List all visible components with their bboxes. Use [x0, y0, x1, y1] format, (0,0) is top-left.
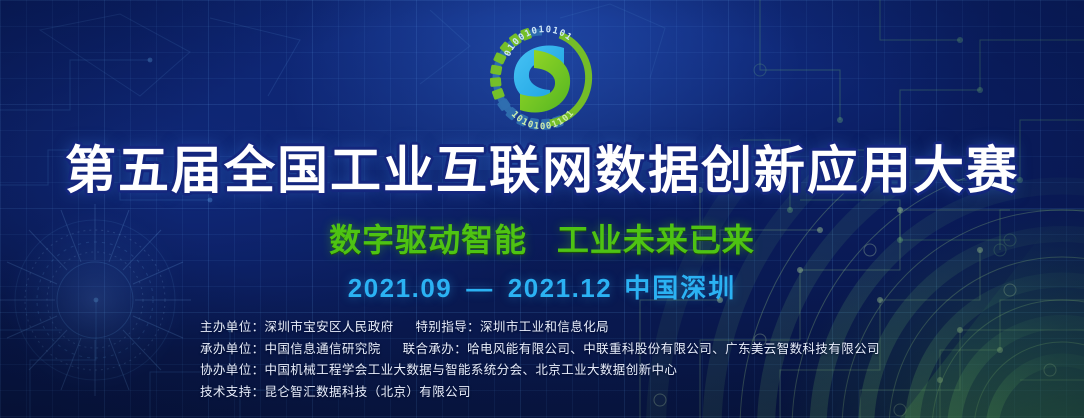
credit-tech-support: 技术支持：昆仑智汇数据科技（北京）有限公司 [200, 385, 471, 399]
event-city: 中国深圳 [624, 273, 736, 303]
credit-line-host: 主办单位：深圳市宝安区人民政府特别指导：深圳市工业和信息化局 [200, 317, 880, 339]
event-date-location: 2021.09—2021.12中国深圳 [0, 268, 1084, 305]
logo-icon: 01001010101 10101001101 [484, 18, 600, 138]
competition-logo: 01001010101 10101001101 [484, 18, 600, 138]
page-title: 第五届全国工业互联网数据创新应用大赛 [0, 141, 1084, 200]
credit-line-coorganizer: 协办单位：中国机械工程学会工业大数据与智能系统分会、北京工业大数据创新中心 [200, 360, 880, 382]
credit-host-organizer: 主办单位：深圳市宝安区人民政府 [200, 320, 394, 334]
credit-line-undertaker: 承办单位：中国信息通信研究院联合承办：哈电风能有限公司、中联重科股份有限公司、广… [200, 339, 880, 361]
credit-line-tech-support: 技术支持：昆仑智汇数据科技（北京）有限公司 [200, 382, 880, 404]
event-banner: 01001010101 10101001101 第五届全国工业互联网数据创新应用… [0, 0, 1084, 418]
date-start: 2021.09 [348, 273, 452, 303]
date-end: 2021.12 [508, 273, 612, 303]
credit-special-guidance: 特别指导：深圳市工业和信息化局 [416, 320, 610, 334]
subtitle: 数字驱动智能 工业未来已来 [0, 215, 1084, 261]
credit-coorganizer: 协办单位：中国机械工程学会工业大数据与智能系统分会、北京工业大数据创新中心 [200, 363, 677, 377]
organizer-credits: 主办单位：深圳市宝安区人民政府特别指导：深圳市工业和信息化局 承办单位：中国信息… [200, 317, 880, 403]
date-dash: — [466, 273, 494, 304]
credit-undertaker: 承办单位：中国信息通信研究院 [200, 342, 381, 356]
credit-co-undertaker: 联合承办：哈电风能有限公司、中联重科股份有限公司、广东美云智数科技有限公司 [403, 342, 880, 356]
